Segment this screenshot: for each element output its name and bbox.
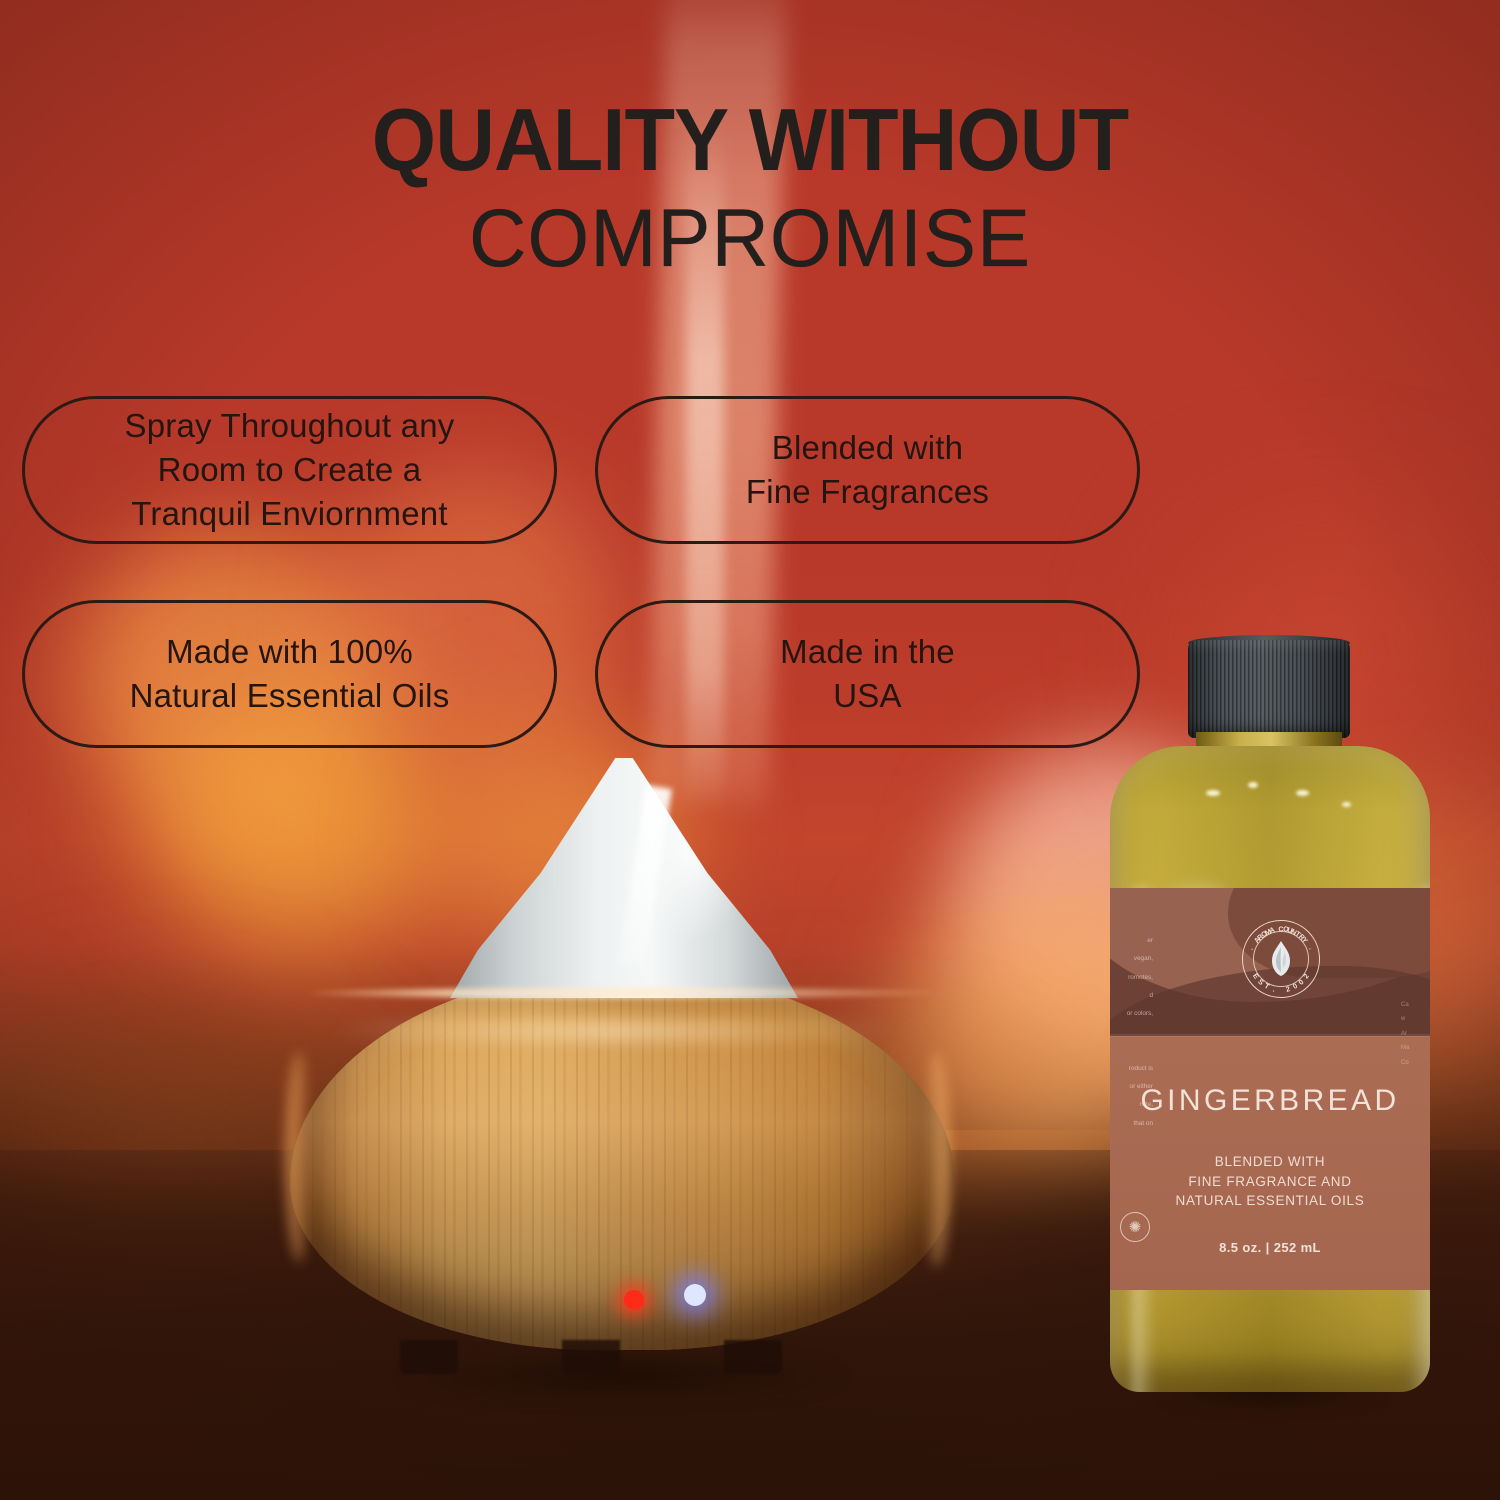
diffuser-foot <box>724 1340 782 1374</box>
product-subtitle: BLENDED WITH FINE FRAGRANCE AND NATURAL … <box>1110 1152 1430 1211</box>
bottle-sparkle <box>1248 782 1258 788</box>
feature-pill-label: Made in the USA <box>780 630 955 718</box>
led-indicator-blue <box>684 1284 706 1306</box>
feature-pill-natural-oils: Made with 100% Natural Essential Oils <box>22 600 557 748</box>
diffuser-rim-light-left <box>286 1052 312 1262</box>
product-volume: 8.5 oz. | 252 mL <box>1110 1240 1430 1255</box>
diffuser-rim-light-right <box>922 1052 950 1267</box>
bottle-sparkle <box>1206 790 1220 796</box>
diffuser-foot <box>562 1340 620 1374</box>
feature-pill-spray-room: Spray Throughout any Room to Create a Tr… <box>22 396 557 544</box>
leaf-seal-icon: ✺ <box>1120 1212 1150 1242</box>
flame-icon <box>1266 940 1296 978</box>
oil-bottle-product-image: · AROMA COUNTRY · EST. 2002 er vegan, ro… <box>1096 640 1444 1400</box>
diffuser-body-highlight <box>332 1020 892 1042</box>
label-divider <box>1110 1034 1430 1037</box>
aroma-country-logo: · AROMA COUNTRY · EST. 2002 <box>1242 920 1320 998</box>
bottle-sparkle <box>1342 802 1351 807</box>
diffuser-product-image <box>272 752 972 1412</box>
feature-pill-label: Made with 100% Natural Essential Oils <box>130 630 450 718</box>
led-indicator-red <box>624 1290 644 1310</box>
diffuser-foot <box>400 1340 458 1374</box>
feature-pill-label: Spray Throughout any Room to Create a Tr… <box>125 404 455 537</box>
bottle-sparkle <box>1296 790 1309 796</box>
feature-pill-fine-fragrances: Blended with Fine Fragrances <box>595 396 1140 544</box>
feature-pill-made-in-usa: Made in the USA <box>595 600 1140 748</box>
bottle-label: · AROMA COUNTRY · EST. 2002 er vegan, ro… <box>1110 888 1430 1290</box>
bottle-cap <box>1188 640 1350 738</box>
diffuser-seam-highlight <box>310 988 934 998</box>
product-name: GINGERBREAD <box>1110 1084 1430 1118</box>
product-infographic: QUALITY WITHOUT COMPROMISE Spray Through… <box>0 0 1500 1500</box>
feature-pill-label: Blended with Fine Fragrances <box>746 426 989 514</box>
